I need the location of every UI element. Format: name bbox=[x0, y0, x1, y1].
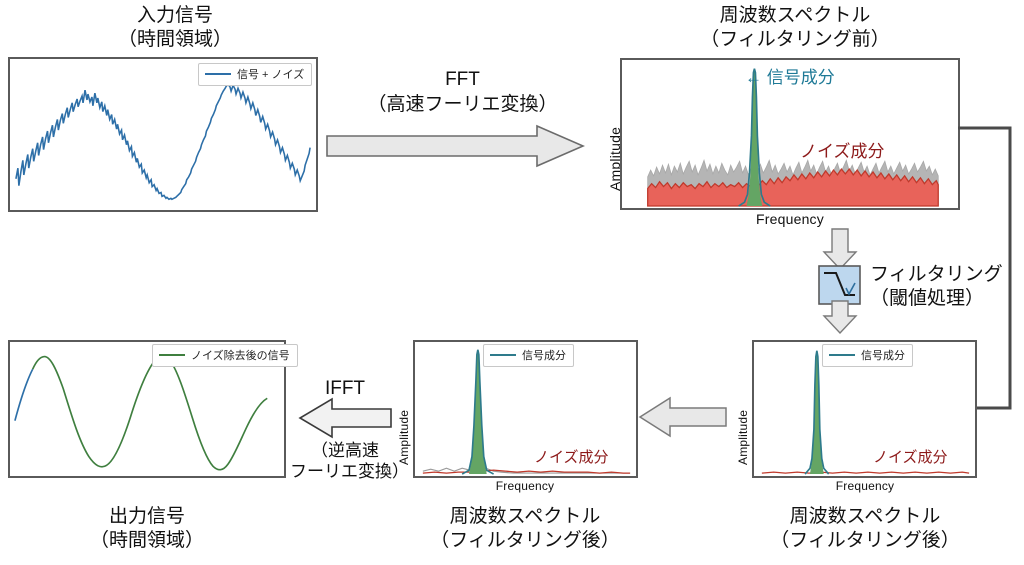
output-signal-trace-green bbox=[33, 356, 268, 470]
legend-spectrum-after-mid: 信号成分 bbox=[483, 344, 574, 367]
title-input-signal: 入力信号 （時間領域） bbox=[60, 4, 290, 53]
legend-swatch-input-signal bbox=[205, 73, 231, 75]
legend-swatch-output-signal bbox=[159, 354, 185, 356]
axis-label-frequency-right: Frequency bbox=[790, 479, 940, 493]
input-signal-trace bbox=[16, 84, 310, 199]
title-spectrum-before-line2: （フィルタリング前） bbox=[660, 28, 930, 52]
title-input-signal-line2: （時間領域） bbox=[60, 28, 290, 52]
ifft-block-arrow[interactable] bbox=[298, 397, 393, 439]
filter-arrow-down-bottom[interactable] bbox=[822, 300, 858, 334]
output-signal-trace-blue bbox=[15, 369, 33, 420]
legend-label-output-signal: ノイズ除去後の信号 bbox=[191, 347, 290, 363]
legend-swatch-spectrum-after-right bbox=[829, 354, 855, 356]
axis-label-frequency-mid: Frequency bbox=[450, 479, 600, 493]
legend-input-signal: 信号 + ノイズ bbox=[198, 63, 312, 86]
annotation-signal-component-top: ← 信号成分 bbox=[745, 63, 835, 88]
filter-label-line1: フィルタリング bbox=[870, 264, 1003, 285]
legend-label-input-signal: 信号 + ノイズ bbox=[237, 66, 304, 82]
legend-output-signal: ノイズ除去後の信号 bbox=[152, 344, 298, 367]
ifft-arrow-shape bbox=[298, 397, 393, 439]
fft-block-arrow[interactable] bbox=[325, 124, 585, 168]
fft-label-line2: （高速フーリエ変換） bbox=[340, 93, 585, 118]
noise-residual-right bbox=[762, 472, 969, 473]
fft-arrow-label: FFT （高速フーリエ変換） bbox=[340, 68, 585, 117]
ifft-label-line2: （逆高速 bbox=[311, 441, 379, 460]
legend-label-spectrum-after-right: 信号成分 bbox=[861, 347, 905, 363]
caption-spectrum-after-right-line1: 周波数スペクトル bbox=[790, 506, 941, 527]
title-spectrum-before-line1: 周波数スペクトル bbox=[720, 5, 871, 26]
spectrum-transfer-arrow[interactable] bbox=[638, 396, 728, 438]
caption-output-signal-line1: 出力信号 bbox=[109, 506, 185, 527]
filter-label: フィルタリング （閾値処理） bbox=[870, 263, 1003, 312]
axis-label-frequency-top: Frequency bbox=[690, 211, 890, 227]
legend-swatch-spectrum-after-mid bbox=[490, 354, 516, 356]
caption-spectrum-after-mid-line1: 周波数スペクトル bbox=[450, 506, 601, 527]
fft-arrow-shape bbox=[325, 124, 585, 168]
axis-label-amplitude-right: Amplitude bbox=[736, 385, 750, 465]
ifft-label-line3: フーリエ変換） bbox=[290, 462, 400, 483]
caption-spectrum-after-right-line2: （フィルタリング後） bbox=[750, 529, 980, 553]
legend-label-spectrum-after-mid: 信号成分 bbox=[522, 347, 566, 363]
spectrum-transfer-arrow-shape bbox=[638, 396, 728, 438]
fft-label-line1: FFT bbox=[445, 69, 480, 90]
ifft-arrow-label-bottom: （逆高速 フーリエ変換） bbox=[290, 441, 400, 482]
caption-spectrum-after-right: 周波数スペクトル （フィルタリング後） bbox=[750, 505, 980, 554]
filter-arrow-down-bottom-shape bbox=[822, 300, 858, 334]
filter-label-line2: （閾値処理） bbox=[870, 287, 1003, 311]
annotation-noise-component-right: ノイズ成分 bbox=[873, 446, 948, 467]
title-input-signal-line1: 入力信号 bbox=[137, 5, 213, 26]
caption-spectrum-after-mid: 周波数スペクトル （フィルタリング後） bbox=[410, 505, 640, 554]
legend-spectrum-after-right: 信号成分 bbox=[822, 344, 913, 367]
annotation-noise-component-mid: ノイズ成分 bbox=[534, 446, 609, 467]
annotation-noise-component-top: ノイズ成分 bbox=[800, 137, 885, 162]
caption-output-signal-line2: （時間領域） bbox=[32, 529, 262, 553]
caption-output-signal: 出力信号 （時間領域） bbox=[32, 505, 262, 554]
ifft-label-line1: IFFT bbox=[325, 378, 365, 399]
title-spectrum-before: 周波数スペクトル （フィルタリング前） bbox=[660, 4, 930, 53]
caption-spectrum-after-mid-line2: （フィルタリング後） bbox=[410, 529, 640, 553]
